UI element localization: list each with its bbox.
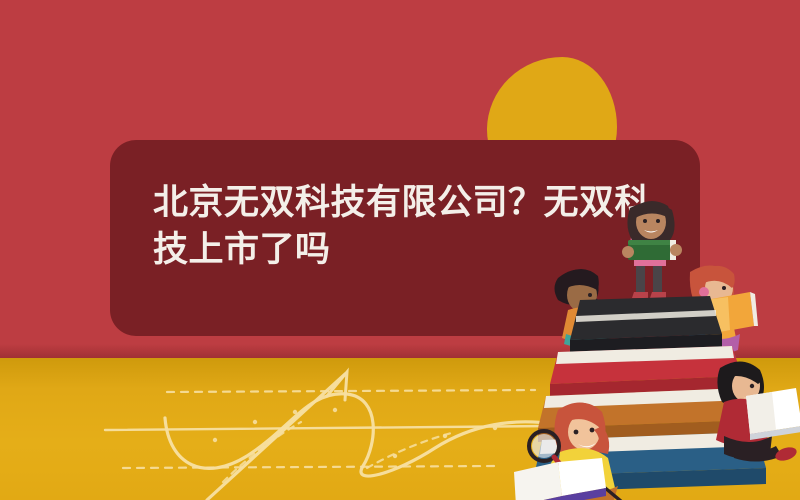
book-black-top	[570, 296, 722, 354]
open-book-on-floor	[514, 458, 606, 500]
boy-red-shirt-reading	[716, 361, 800, 463]
banner-canvas: 北京无双科技有限公司？无双科技上市了吗	[0, 0, 800, 500]
girl-standing-with-green-book	[622, 201, 682, 298]
growth-chart-doodle-icon	[95, 352, 555, 500]
children-reading-illustration	[510, 200, 800, 500]
